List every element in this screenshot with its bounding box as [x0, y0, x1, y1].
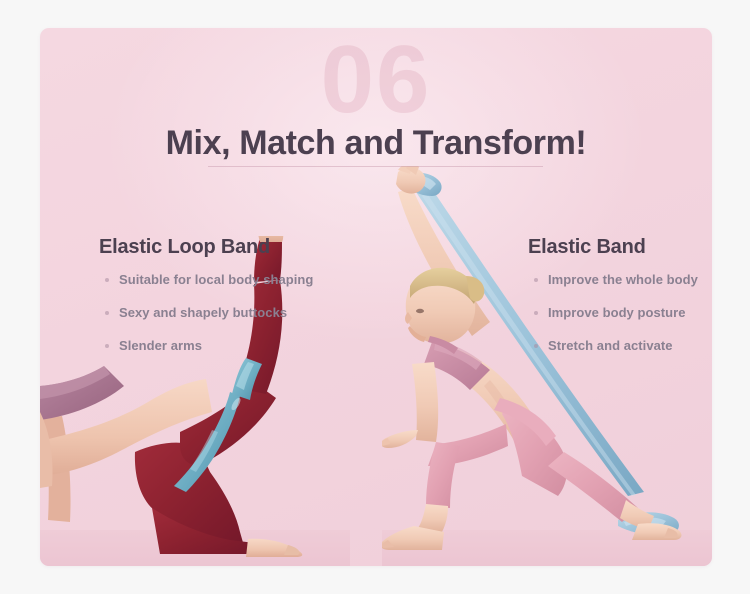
list-item-label: Sexy and shapely buttocks	[119, 305, 287, 320]
elastic-band-figure	[382, 166, 712, 566]
list-item: Stretch and activate	[528, 338, 698, 353]
bullet-dot-icon	[534, 311, 538, 315]
list-item: Slender arms	[99, 338, 313, 353]
list-item-label: Suitable for local body shaping	[119, 272, 313, 287]
feature-heading-left: Elastic Loop Band	[99, 236, 313, 258]
feature-column-elastic-band: Elastic Band Improve the whole body Impr…	[528, 236, 698, 353]
list-item: Suitable for local body shaping	[99, 272, 313, 287]
feature-list-right: Improve the whole body Improve body post…	[528, 272, 698, 353]
feature-heading-right: Elastic Band	[528, 236, 698, 258]
feature-list-left: Suitable for local body shaping Sexy and…	[99, 272, 313, 353]
list-item-label: Slender arms	[119, 338, 202, 353]
title-divider	[208, 166, 543, 167]
list-item: Improve body posture	[528, 305, 698, 320]
bullet-dot-icon	[534, 344, 538, 348]
feature-column-elastic-loop-band: Elastic Loop Band Suitable for local bod…	[99, 236, 313, 353]
bullet-dot-icon	[105, 278, 109, 282]
page-title: Mix, Match and Transform!	[40, 125, 712, 162]
elastic-band-photo	[382, 166, 712, 566]
bullet-dot-icon	[105, 311, 109, 315]
list-item: Sexy and shapely buttocks	[99, 305, 313, 320]
bullet-dot-icon	[105, 344, 109, 348]
bullet-dot-icon	[534, 278, 538, 282]
list-item-label: Stretch and activate	[548, 338, 673, 353]
step-number-watermark: 06	[40, 32, 712, 128]
list-item-label: Improve body posture	[548, 305, 686, 320]
list-item: Improve the whole body	[528, 272, 698, 287]
promo-card: 06 Mix, Match and Transform! Elastic Loo…	[40, 28, 712, 566]
list-item-label: Improve the whole body	[548, 272, 698, 287]
